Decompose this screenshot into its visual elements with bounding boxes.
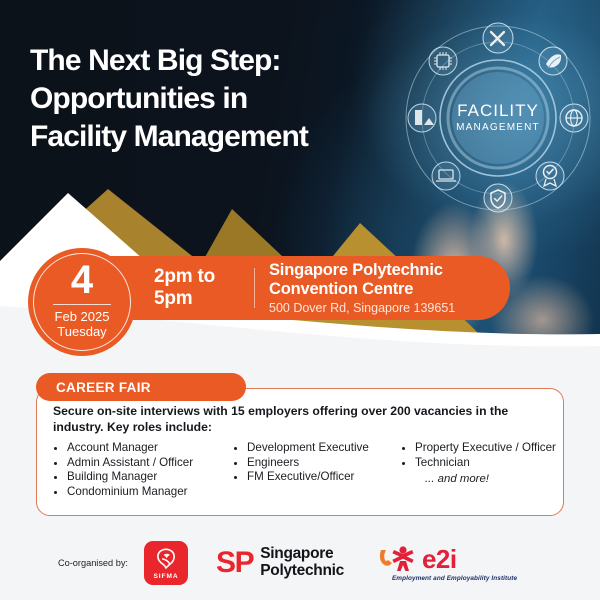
poster-title: The Next Big Step: Opportunities in Faci… [30, 42, 430, 156]
hud-center-title: FACILITY [457, 101, 539, 120]
career-fair-tag-label: CAREER FAIR [56, 380, 151, 395]
roles-column-1: Account Manager Admin Assistant / Office… [53, 441, 233, 499]
career-fair-card: Secure on-site interviews with 15 employ… [36, 388, 564, 516]
event-date-badge: 4 Feb 2025 Tuesday [28, 248, 136, 356]
title-line-3: Facility Management [30, 118, 430, 156]
list-item: Development Executive [247, 441, 401, 456]
list-item: Property Executive / Officer [415, 441, 556, 456]
tools-icon [483, 23, 513, 53]
roles-columns: Account Manager Admin Assistant / Office… [53, 441, 553, 499]
list-item: Building Manager [67, 470, 233, 485]
globe-icon [560, 104, 588, 132]
lion-head-icon [153, 546, 179, 572]
date-badge-ring [33, 253, 131, 351]
event-venue: Singapore Polytechnic Convention Centre … [269, 261, 455, 316]
event-poster: FACILITY MANAGEMENT [0, 0, 600, 600]
leaf-eco-icon [539, 47, 567, 75]
venue-address: 500 Dover Rd, Singapore 139651 [269, 300, 455, 316]
e2i-tagline: Employment and Employability Institute [392, 575, 517, 582]
event-time: 2pm to 5pm [154, 266, 254, 310]
roles-column-3: Property Executive / Officer Technician … [401, 441, 556, 499]
chip-ai-icon [429, 47, 457, 75]
title-line-1: The Next Big Step: [30, 42, 430, 80]
e2i-logo: e2i Employment and Employability Institu… [378, 544, 517, 582]
bar-divider [254, 268, 255, 308]
list-item: FM Executive/Officer [247, 470, 401, 485]
e2i-wordmark: e2i [422, 546, 457, 572]
list-item: Technician [415, 456, 556, 471]
sifma-wordmark: SIFMA [153, 573, 178, 580]
list-item: Engineers [247, 456, 401, 471]
and-more-text: ... and more! [425, 472, 556, 487]
list-item: Account Manager [67, 441, 233, 456]
sp-wordmark: Singapore Polytechnic [260, 546, 344, 579]
list-item: Admin Assistant / Officer [67, 456, 233, 471]
sifma-logo: SIFMA [144, 541, 188, 585]
career-fair-lead-text: Secure on-site interviews with 15 employ… [53, 403, 549, 435]
title-line-2: Opportunities in [30, 80, 430, 118]
venue-name-line-2: Convention Centre [269, 280, 455, 299]
sp-wordmark-line-1: Singapore [260, 546, 344, 563]
sp-wordmark-line-2: Polytechnic [260, 563, 344, 580]
career-fair-tag: CAREER FAIR [36, 373, 246, 401]
e2i-figure-icon [378, 544, 424, 574]
venue-name-line-1: Singapore Polytechnic [269, 261, 455, 280]
list-item: Condominium Manager [67, 485, 233, 500]
co-organised-label: Co-organised by: [58, 558, 140, 568]
hud-center-subtitle: MANAGEMENT [456, 122, 540, 133]
footer-logos: Co-organised by: SIFMA SP Singapore Poly… [0, 525, 600, 600]
sp-monogram: SP [216, 548, 253, 578]
roles-column-2: Development Executive Engineers FM Execu… [233, 441, 401, 499]
singapore-polytechnic-logo: SP Singapore Polytechnic [216, 546, 344, 579]
e2i-mark-row: e2i [378, 544, 517, 574]
